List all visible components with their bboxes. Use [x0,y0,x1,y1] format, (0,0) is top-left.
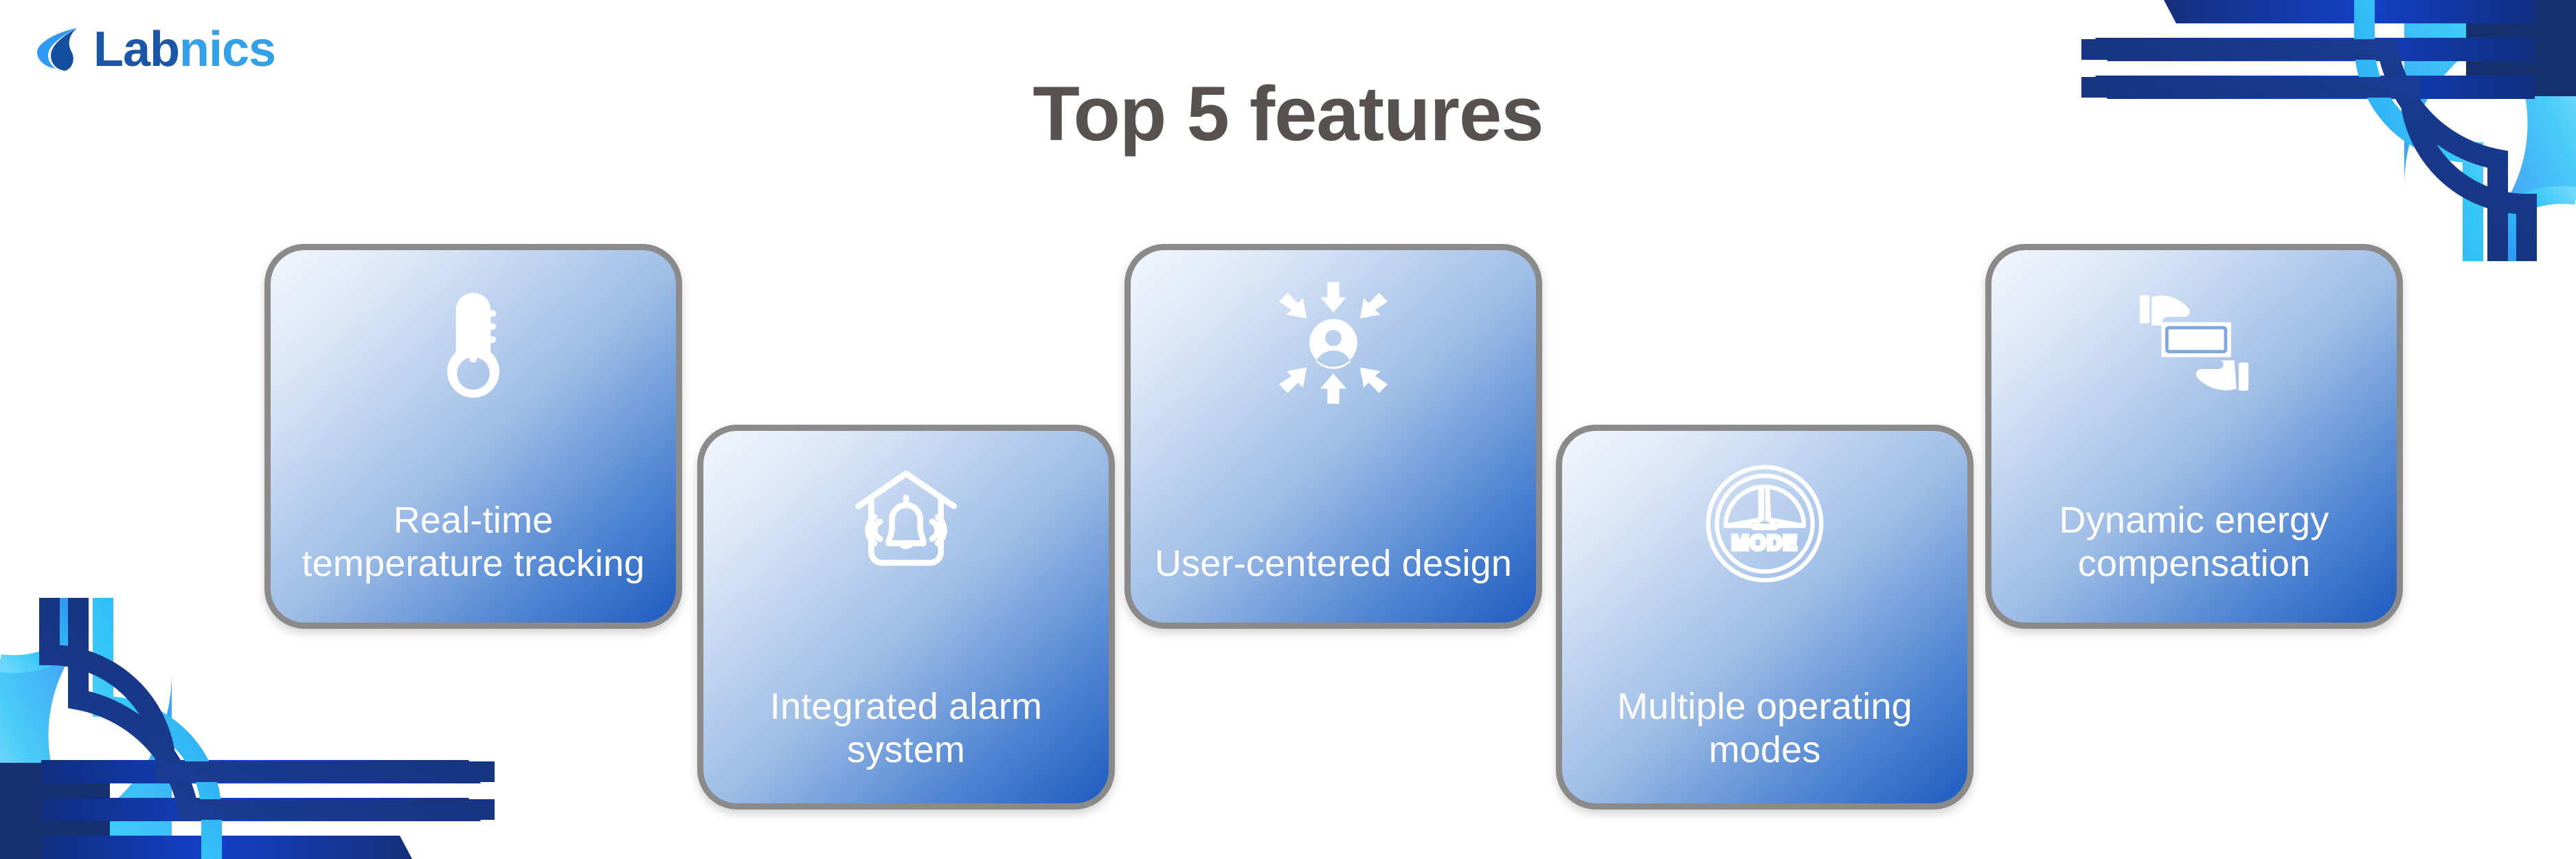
mode-dial-icon: MODE [1699,458,1830,589]
house-alarm-bell-icon [841,458,971,589]
mode-dial-label: MODE [1732,532,1798,555]
user-centered-arrows-icon [1268,278,1399,408]
feature-card-label: Real-time temperature tracking [271,499,676,585]
thermometer-icon [408,278,539,408]
feature-card-dynamic-energy-compensation[interactable]: Dynamic energy compensation [1985,244,2403,629]
feature-card-multiple-operating-modes[interactable]: MODE Multiple operating modes [1556,425,1974,810]
hands-money-exchange-icon [2129,278,2259,408]
feature-card-label: Dynamic energy compensation [1991,499,2397,585]
feature-card-label: Multiple operating modes [1562,685,1967,772]
feature-card-user-centered-design[interactable]: User-centered design [1125,244,1542,629]
feature-card-label: Integrated alarm system [703,685,1109,772]
feature-card-label: User-centered design [1131,542,1535,585]
feature-card-real-time-temperature-tracking[interactable]: Real-time temperature tracking [264,244,682,629]
feature-card-integrated-alarm-system[interactable]: Integrated alarm system [697,425,1115,810]
slide-canvas: Labnics Top 5 features Real-time tempera… [0,0,2576,859]
feature-card-list: Real-time temperature tracking [0,0,2576,859]
